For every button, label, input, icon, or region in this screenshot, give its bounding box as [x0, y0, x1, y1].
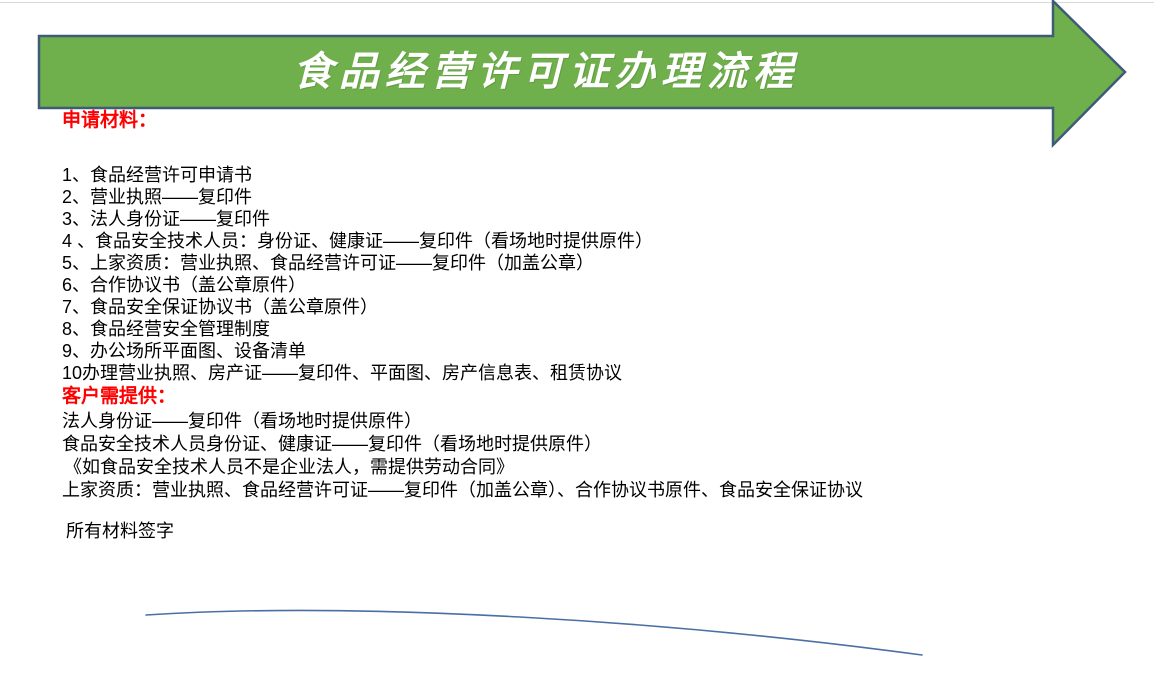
list-item: 《如食品安全技术人员不是企业法人，需提供劳动合同》: [0, 456, 1154, 479]
list-item: 上家资质：营业执照、食品经营许可证——复印件（加盖公章）、合作协议书原件、食品安…: [0, 479, 1154, 502]
list-item: 3、法人身份证——复印件: [0, 208, 1154, 230]
list-item: 5、上家资质：营业执照、食品经营许可证——复印件（加盖公章）: [0, 252, 1154, 274]
customer-provides-heading: 客户需提供：: [0, 384, 1154, 410]
slide-canvas: 食品经营许可证办理流程 申请材料： 1、食品经营许可申请书 2、营业执照——复印…: [0, 0, 1154, 695]
customer-provides-list: 法人身份证——复印件（看场地时提供原件） 食品安全技术人员身份证、健康证——复印…: [0, 410, 1154, 502]
decorative-curve: [110, 585, 960, 680]
spacer-after-heading: [0, 134, 1154, 164]
application-materials-heading: 申请材料：: [0, 108, 1154, 134]
list-item: 8、食品经营安全管理制度: [0, 318, 1154, 340]
list-item: 法人身份证——复印件（看场地时提供原件）: [0, 410, 1154, 433]
list-item: 6、合作协议书（盖公章原件）: [0, 274, 1154, 296]
list-item: 7、食品安全保证协议书（盖公章原件）: [0, 296, 1154, 318]
list-item: 1、食品经营许可申请书: [0, 164, 1154, 186]
application-materials-list: 1、食品经营许可申请书 2、营业执照——复印件 3、法人身份证——复印件 4 、…: [0, 164, 1154, 384]
curve-path: [146, 610, 922, 655]
content-body: 申请材料： 1、食品经营许可申请书 2、营业执照——复印件 3、法人身份证——复…: [0, 108, 1154, 542]
list-item: 食品安全技术人员身份证、健康证——复印件（看场地时提供原件）: [0, 433, 1154, 456]
list-item: 4 、食品安全技术人员：身份证、健康证——复印件（看场地时提供原件）: [0, 230, 1154, 252]
list-item: 9、办公场所平面图、设备清单: [0, 340, 1154, 362]
signoff-note: 所有材料签字: [0, 520, 1154, 542]
spacer-before-signoff: [0, 502, 1154, 520]
list-item: 10办理营业执照、房产证——复印件、平面图、房产信息表、租赁协议: [0, 362, 1154, 384]
list-item: 2、营业执照——复印件: [0, 186, 1154, 208]
